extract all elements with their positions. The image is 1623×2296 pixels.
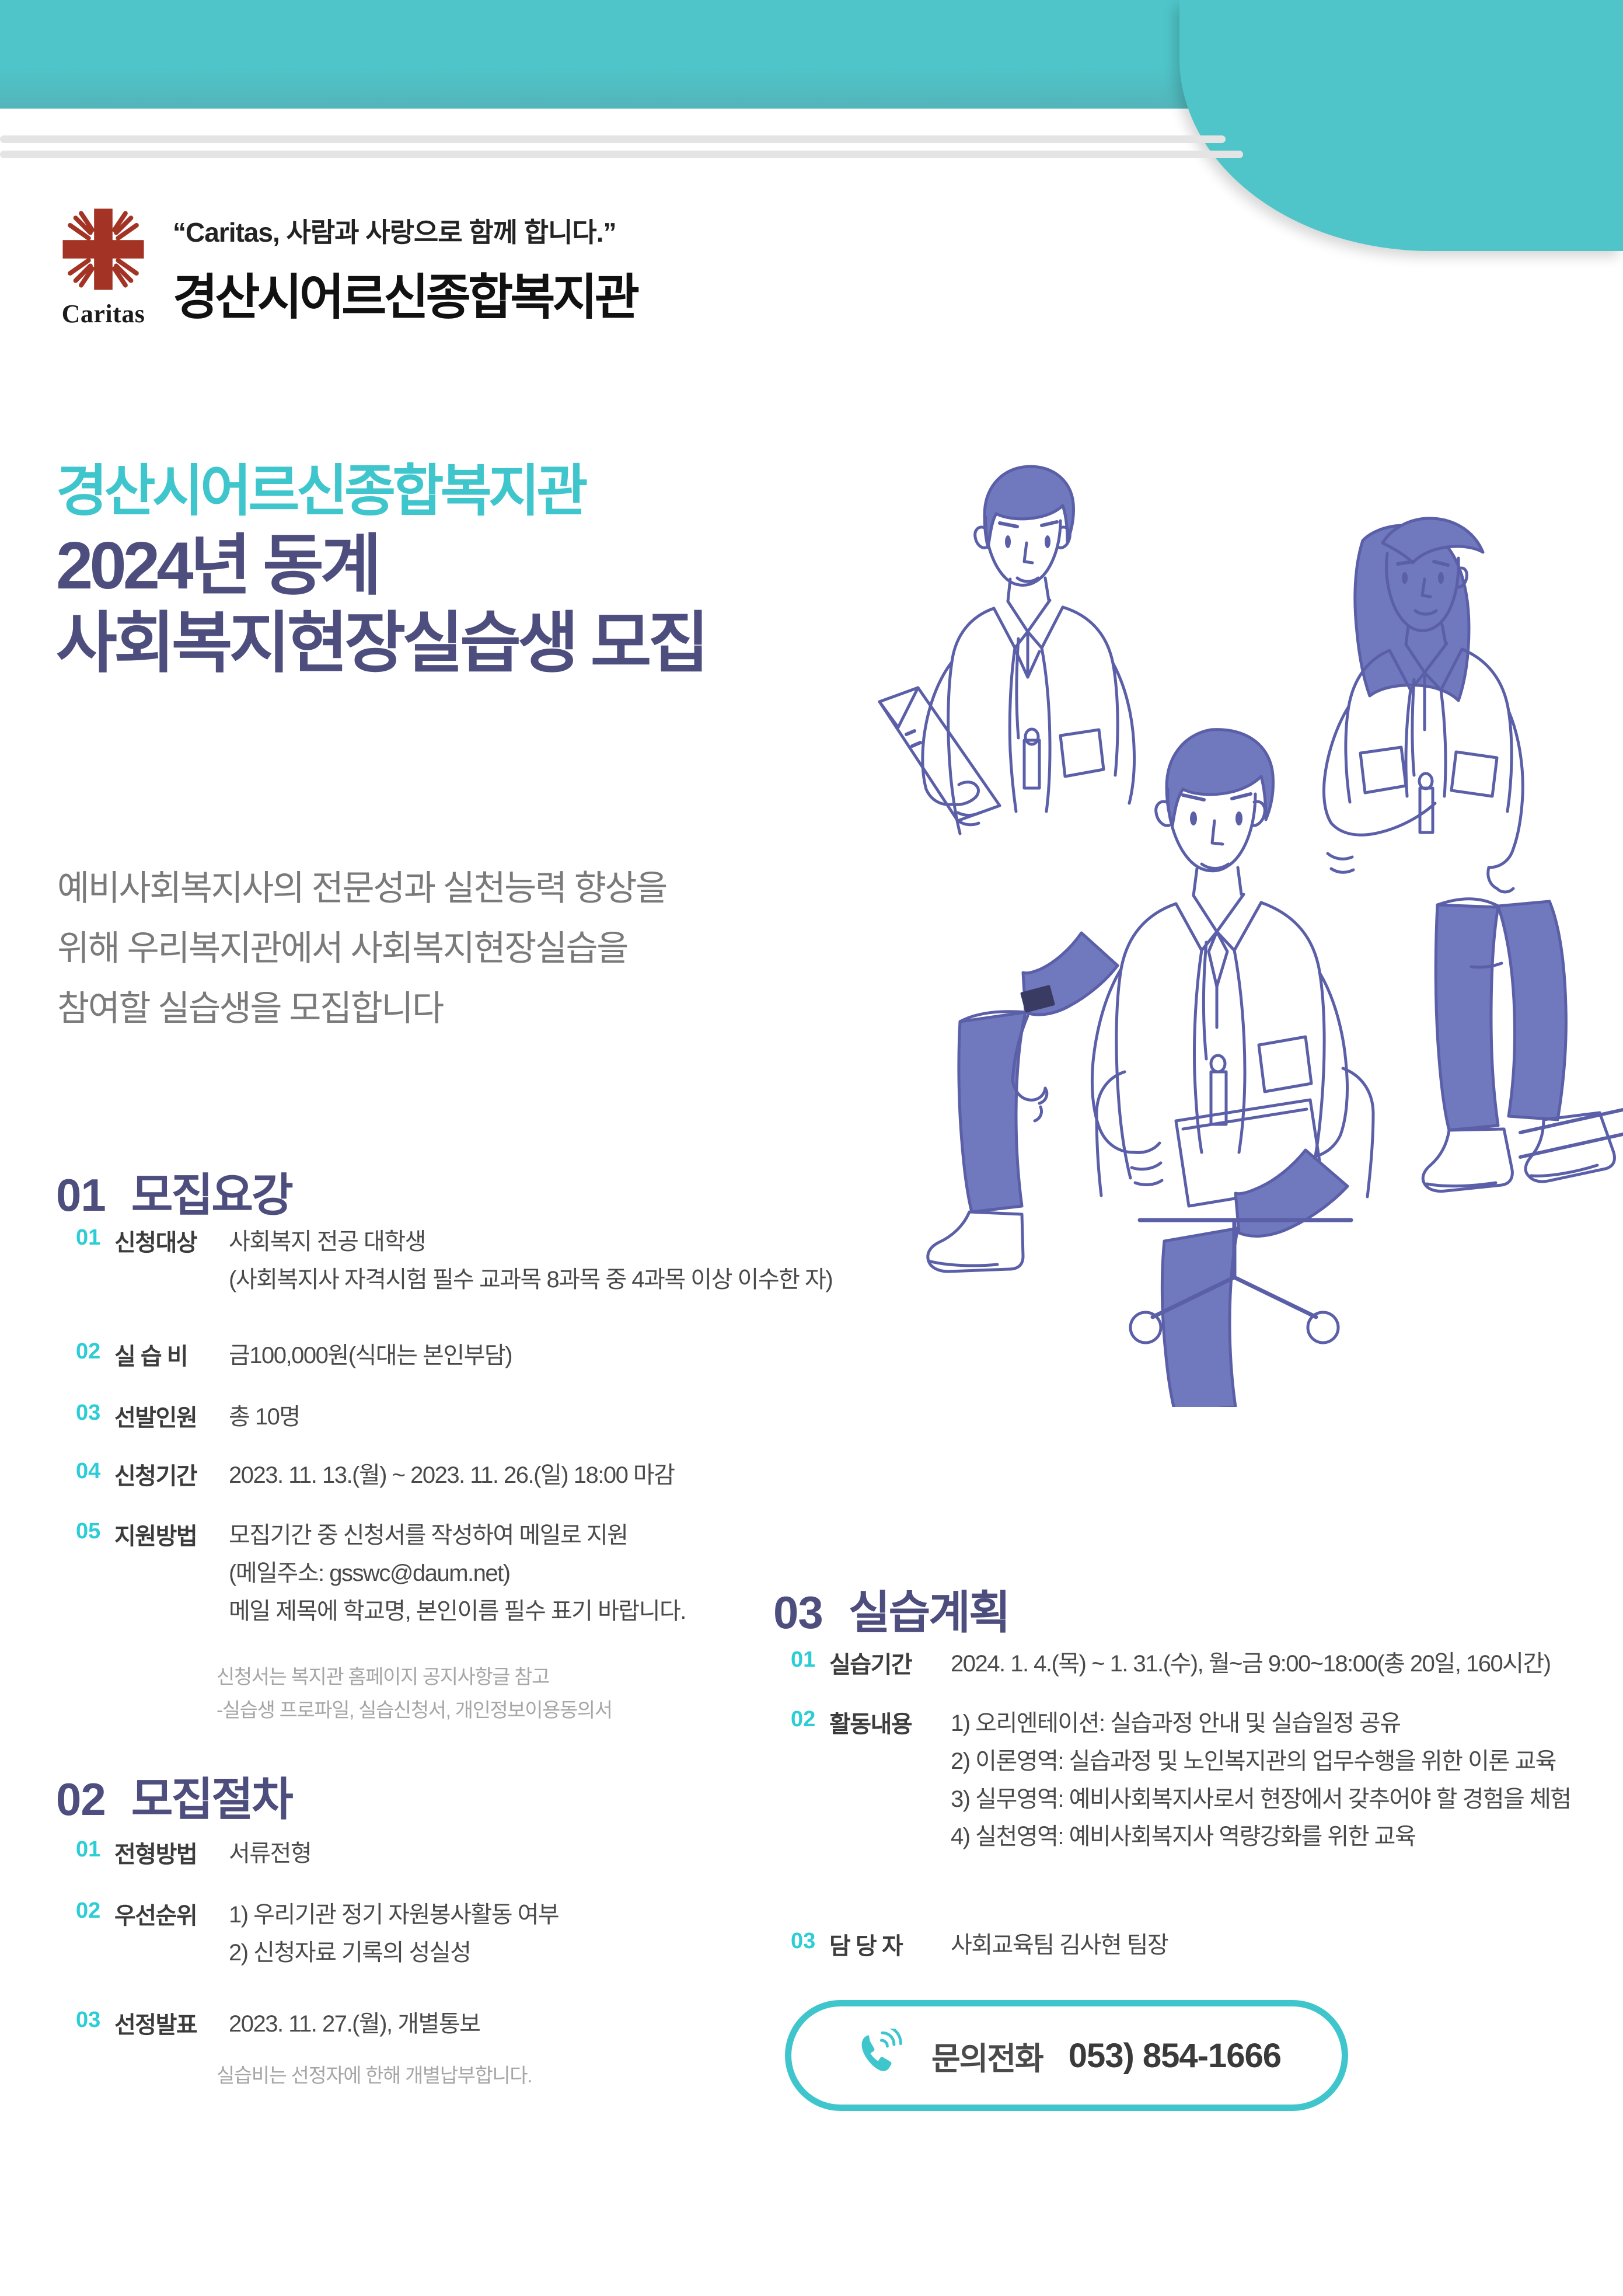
section-title: 모집요강	[131, 1159, 292, 1224]
item-value-line: 4) 실천영역: 예비사회복지사 역량강화를 위한 교육	[951, 1818, 1571, 1856]
title-line-1: 경산시어르신종합복지관	[56, 461, 706, 522]
item-number: 05	[76, 1517, 114, 1544]
section2-notes: 실습비는 선정자에 한해 개별납부합니다.	[217, 2060, 532, 2093]
item-label: 신청대상	[114, 1223, 229, 1257]
item-number: 03	[791, 1926, 829, 1954]
banner-corner-curve-inner	[1238, 0, 1623, 210]
caritas-wordmark: Caritas	[62, 299, 145, 329]
section-heading-recruitment-overview: 01 모집요강	[56, 1159, 292, 1224]
section-heading-recruitment-process: 02 모집절차	[56, 1763, 292, 1828]
decorative-rule-1	[0, 135, 1226, 143]
list-item: 03 선정발표 2023. 11. 27.(월), 개별통보	[76, 2005, 776, 2043]
item-value: 2024. 1. 4.(목) ~ 1. 31.(수), 월~금 9:00~18:…	[951, 1645, 1551, 1683]
list-item: 03 선발인원 총 10명	[76, 1398, 928, 1436]
organization-header: Caritas “Caritas, 사람과 사랑으로 함께 합니다.” 경산시어…	[57, 203, 637, 329]
intro-line: 위해 우리복지관에서 사회복지현장실습을	[57, 918, 933, 978]
item-value-line: 2) 신청자료 기록의 성실성	[229, 1934, 559, 1972]
list-item: 01 실습기간 2024. 1. 4.(목) ~ 1. 31.(수), 월~금 …	[791, 1645, 1608, 1683]
section1-notes: 신청서는 복지관 홈페이지 공지사항글 참고 -실습생 프로파일, 실습신청서,…	[217, 1661, 612, 1727]
decorative-rule-2	[0, 151, 1243, 158]
item-value-line: 2024. 1. 4.(목) ~ 1. 31.(수), 월~금 9:00~18:…	[951, 1645, 1551, 1683]
item-value: 1) 오리엔테이션: 실습과정 안내 및 실습일정 공유 2) 이론영역: 실습…	[951, 1705, 1571, 1856]
three-people-illustration	[849, 403, 1623, 1407]
section-number: 02	[56, 1773, 106, 1826]
item-number: 03	[76, 2005, 114, 2033]
item-label: 활동내용	[829, 1705, 951, 1739]
list-item: 01 전형방법 서류전형	[76, 1835, 776, 1873]
item-value-line: 1) 오리엔테이션: 실습과정 안내 및 실습일정 공유	[951, 1705, 1571, 1743]
item-value-line: 2023. 11. 13.(월) ~ 2023. 11. 26.(일) 18:0…	[229, 1457, 675, 1494]
intro-line: 예비사회복지사의 전문성과 실천능력 향상을	[57, 858, 933, 918]
item-number: 01	[76, 1223, 114, 1250]
organization-slogan: “Caritas, 사람과 사랑으로 함께 합니다.”	[173, 211, 637, 250]
item-value: 사회교육팀 김사현 팀장	[951, 1926, 1168, 1964]
banner-corner-curve	[1179, 0, 1623, 251]
contact-label: 문의전화	[931, 2033, 1043, 2079]
list-item: 01 신청대상 사회복지 전공 대학생 (사회복지사 자격시험 필수 교과목 8…	[76, 1223, 928, 1299]
organization-text-block: “Caritas, 사람과 사랑으로 함께 합니다.” 경산시어르신종합복지관	[173, 203, 637, 329]
item-number: 03	[76, 1398, 114, 1426]
item-value-line: 서류전형	[229, 1835, 311, 1873]
item-label: 지원방법	[114, 1517, 229, 1551]
item-value-line: (사회복지사 자격시험 필수 교과목 8과목 중 4과목 이상 이수한 자)	[229, 1261, 832, 1299]
item-value: 사회복지 전공 대학생 (사회복지사 자격시험 필수 교과목 8과목 중 4과목…	[229, 1223, 832, 1299]
list-item: 04 신청기간 2023. 11. 13.(월) ~ 2023. 11. 26.…	[76, 1457, 963, 1494]
item-value-line: 메일 제목에 학교명, 본인이름 필수 표기 바랍니다.	[229, 1593, 686, 1630]
section-number: 03	[773, 1586, 823, 1639]
title-line-3: 사회복지현장실습생 모집	[56, 608, 706, 680]
item-value: 금100,000원(식대는 본인부담)	[229, 1337, 512, 1375]
intro-line: 참여할 실습생을 모집합니다	[57, 978, 933, 1039]
item-number: 01	[791, 1645, 829, 1673]
poster-title: 경산시어르신종합복지관 2024년 동계 사회복지현장실습생 모집	[56, 461, 706, 680]
item-value-line: (메일주소: gsswc@daum.net)	[229, 1555, 686, 1593]
note-line: 신청서는 복지관 홈페이지 공지사항글 참고	[217, 1661, 612, 1694]
intro-description: 예비사회복지사의 전문성과 실천능력 향상을 위해 우리복지관에서 사회복지현장…	[57, 858, 933, 1039]
item-value-line: 사회교육팀 김사현 팀장	[951, 1926, 1168, 1964]
note-line: -실습생 프로파일, 실습신청서, 개인정보이용동의서	[217, 1694, 612, 1727]
section-heading-practicum-plan: 03 실습계획	[773, 1576, 1009, 1642]
note-line: 실습비는 선정자에 한해 개별납부합니다.	[217, 2060, 532, 2093]
item-value: 서류전형	[229, 1835, 311, 1873]
section-title: 모집절차	[131, 1763, 292, 1828]
item-label: 전형방법	[114, 1835, 229, 1869]
item-value-line: 2) 이론영역: 실습과정 및 노인복지관의 업무수행을 위한 이론 교육	[951, 1743, 1571, 1781]
section-number: 01	[56, 1169, 106, 1222]
item-value-line: 금100,000원(식대는 본인부담)	[229, 1337, 512, 1375]
list-item: 03 담 당 자 사회교육팀 김사현 팀장	[791, 1926, 1608, 1964]
list-item: 02 실 습 비 금100,000원(식대는 본인부담)	[76, 1337, 928, 1375]
section-title: 실습계획	[849, 1576, 1009, 1642]
item-label: 선발인원	[114, 1398, 229, 1433]
item-value-line: 모집기간 중 신청서를 작성하여 메일로 지원	[229, 1517, 686, 1555]
organization-name: 경산시어르신종합복지관	[173, 258, 637, 329]
item-label: 신청기간	[114, 1457, 229, 1491]
contact-number: 053) 854-1666	[1069, 2036, 1281, 2075]
item-label: 담 당 자	[829, 1926, 951, 1961]
item-label: 실습기간	[829, 1645, 951, 1680]
caritas-cross-icon	[57, 203, 149, 295]
item-label: 우선순위	[114, 1896, 229, 1931]
item-value-line: 총 10명	[229, 1398, 300, 1436]
item-number: 02	[76, 1337, 114, 1364]
item-number: 02	[76, 1896, 114, 1924]
people-line-art-icon	[849, 403, 1623, 1407]
list-item: 02 활동내용 1) 오리엔테이션: 실습과정 안내 및 실습일정 공유 2) …	[791, 1705, 1608, 1856]
poster-canvas: Caritas “Caritas, 사람과 사랑으로 함께 합니다.” 경산시어…	[0, 0, 1623, 2296]
contact-phone-button[interactable]: 문의전화 053) 854-1666	[785, 2000, 1348, 2111]
item-number: 01	[76, 1835, 114, 1862]
item-value-line: 3) 실무영역: 예비사회복지사로서 현장에서 갖추어야 할 경험을 체험	[951, 1781, 1571, 1818]
item-value: 모집기간 중 신청서를 작성하여 메일로 지원 (메일주소: gsswc@dau…	[229, 1517, 686, 1630]
item-value-line: 1) 우리기관 정기 자원봉사활동 여부	[229, 1896, 559, 1934]
item-label: 선정발표	[114, 2005, 229, 2040]
item-value: 총 10명	[229, 1398, 300, 1436]
item-value-line: 사회복지 전공 대학생	[229, 1223, 832, 1261]
item-value: 1) 우리기관 정기 자원봉사활동 여부 2) 신청자료 기록의 성실성	[229, 1896, 559, 1972]
item-number: 02	[791, 1705, 829, 1732]
item-number: 04	[76, 1457, 114, 1484]
list-item: 02 우선순위 1) 우리기관 정기 자원봉사활동 여부 2) 신청자료 기록의…	[76, 1896, 776, 1972]
title-line-2: 2024년 동계	[56, 530, 706, 602]
item-value: 2023. 11. 13.(월) ~ 2023. 11. 26.(일) 18:0…	[229, 1457, 675, 1494]
caritas-logo: Caritas	[57, 203, 149, 329]
item-value: 2023. 11. 27.(월), 개별통보	[229, 2005, 480, 2043]
phone-call-icon	[852, 2029, 906, 2082]
item-value-line: 2023. 11. 27.(월), 개별통보	[229, 2005, 480, 2043]
item-label: 실 습 비	[114, 1337, 229, 1371]
